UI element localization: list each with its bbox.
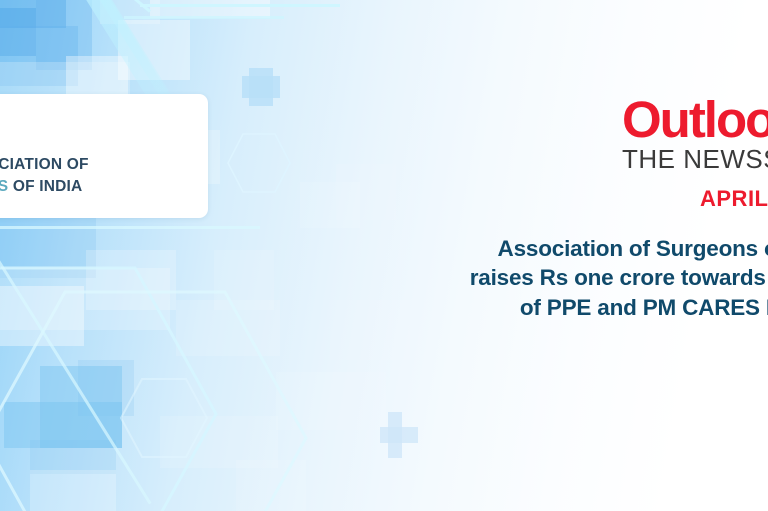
square-block xyxy=(118,20,190,80)
square-block xyxy=(0,62,130,96)
medical-cross-icon xyxy=(242,76,280,98)
square-block xyxy=(300,182,360,228)
headline-line-3: of PPE and PM CARES Fund xyxy=(390,293,768,322)
asi-tagline-of-india: OF INDIA xyxy=(8,178,82,195)
headline-line-2: raises Rs one crore towards purchase xyxy=(390,263,768,292)
square-block xyxy=(236,460,306,511)
square-block xyxy=(30,470,116,511)
square-block xyxy=(30,440,116,474)
square-block xyxy=(0,8,36,56)
medical-cross-icon xyxy=(388,412,402,458)
medical-cross-icon xyxy=(40,366,122,448)
square-block xyxy=(276,372,386,430)
asi-tagline-line1: THE ASSOCIATION OF xyxy=(0,156,89,174)
asi-tagline-line2: SURGEONS OF INDIA xyxy=(0,178,82,196)
diagonal-streak xyxy=(134,0,151,13)
diagonal-streak xyxy=(96,0,173,104)
square-block xyxy=(100,0,160,24)
hexagon-outline-icon xyxy=(0,288,310,511)
outlook-tagline: THE NEWSSCROLL xyxy=(622,146,768,172)
hexagon-outline-icon xyxy=(226,132,292,194)
hexagon-outline-icon xyxy=(118,376,210,460)
hexagon-outline-icon xyxy=(0,264,220,511)
square-block xyxy=(78,360,134,416)
square-block xyxy=(0,0,66,28)
medical-cross-icon xyxy=(380,427,418,443)
diagonal-streak xyxy=(80,0,173,109)
asi-logo-text-block: ASI THE ASSOCIATION OF SURGEONS OF INDIA xyxy=(0,94,208,218)
headline-line-1: Association of Surgeons of India xyxy=(390,234,768,263)
square-block xyxy=(0,286,84,346)
square-block xyxy=(0,268,170,330)
news-banner: ASI THE ASSOCIATION OF SURGEONS OF INDIA… xyxy=(0,0,768,511)
asi-logo-card: ASI THE ASSOCIATION OF SURGEONS OF INDIA xyxy=(0,94,208,218)
square-block xyxy=(0,218,96,278)
square-block xyxy=(0,26,78,86)
square-block xyxy=(150,0,270,18)
outlook-wordmark: Outlook xyxy=(622,96,768,144)
square-block xyxy=(214,250,274,310)
medical-cross-icon xyxy=(249,68,273,106)
square-block xyxy=(176,300,280,356)
square-block xyxy=(36,0,92,70)
headline: Association of Surgeons of India raises … xyxy=(390,234,768,322)
issue-date: APRIL 14, 2020 xyxy=(700,186,768,212)
diagonal-streak xyxy=(124,16,284,19)
medical-cross-icon xyxy=(4,402,122,448)
square-block xyxy=(160,416,278,468)
outlook-brand-block: Outlook THE NEWSSCROLL xyxy=(622,96,768,172)
diagonal-streak xyxy=(140,4,340,7)
square-block xyxy=(336,164,396,220)
square-block xyxy=(66,56,128,96)
square-block xyxy=(86,250,176,310)
diagonal-streak xyxy=(0,226,260,229)
diagonal-streak xyxy=(0,248,152,504)
